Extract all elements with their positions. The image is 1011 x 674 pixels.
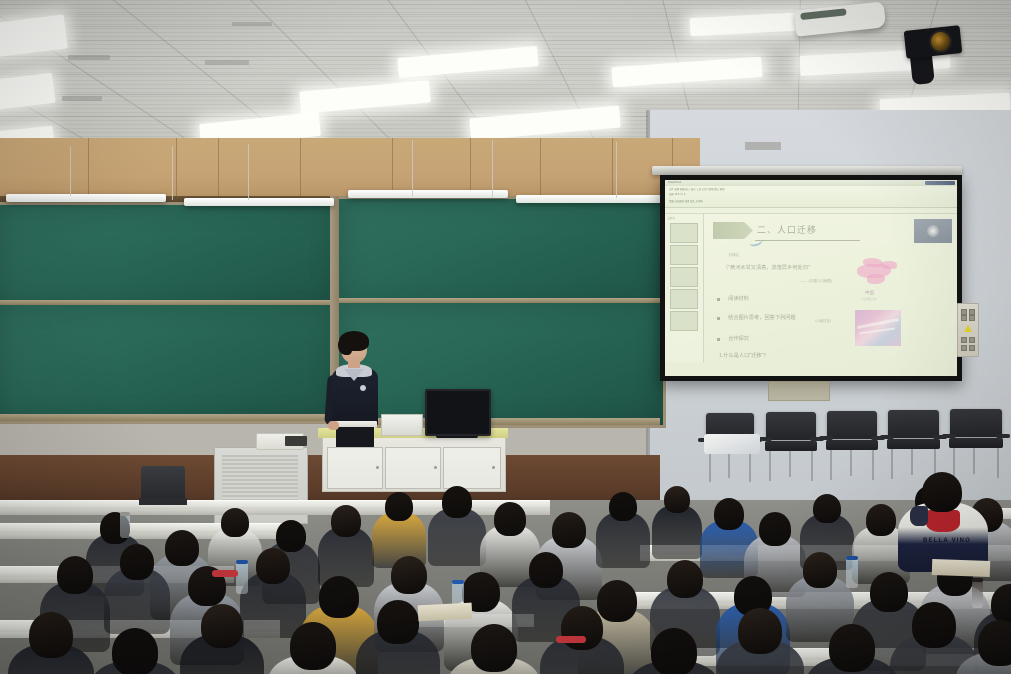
audience-head bbox=[112, 628, 158, 674]
chair[interactable] bbox=[950, 409, 1002, 479]
audience-head bbox=[165, 530, 199, 566]
back-chair bbox=[141, 466, 185, 500]
audience-head bbox=[759, 512, 791, 546]
video-highlight bbox=[927, 225, 939, 237]
audience-member bbox=[90, 628, 180, 674]
chair-back[interactable] bbox=[950, 409, 1002, 437]
audience-head bbox=[651, 628, 697, 674]
slide-thumb[interactable] bbox=[670, 223, 698, 243]
ceiling-seam bbox=[0, 94, 1011, 95]
podium-door[interactable] bbox=[385, 447, 441, 489]
ceiling-vent bbox=[205, 60, 249, 65]
laptop[interactable] bbox=[381, 414, 423, 436]
audience-head bbox=[385, 492, 413, 521]
door-handle-icon[interactable] bbox=[492, 466, 495, 469]
ceiling-strip bbox=[0, 32, 1011, 33]
audience-member bbox=[652, 486, 702, 566]
chair-seat[interactable] bbox=[887, 439, 940, 449]
window-buttons[interactable] bbox=[925, 181, 955, 185]
slide-line-1: · 阅读材料 bbox=[725, 295, 749, 302]
chair-leg bbox=[728, 452, 730, 478]
book bbox=[932, 559, 991, 577]
app-window-title: PowerPoint bbox=[668, 181, 681, 184]
cabinet-dark-device bbox=[285, 436, 307, 446]
water-bottle bbox=[236, 560, 248, 594]
board-divider bbox=[0, 300, 336, 305]
map-subcaption: 人口密度分布 bbox=[861, 297, 877, 301]
ceiling-strip bbox=[0, 92, 1011, 93]
chair[interactable] bbox=[888, 410, 939, 480]
audience-head bbox=[866, 504, 896, 536]
slide-line-0: （"黄河水甘又清亮，流落异乡何处归" bbox=[723, 264, 810, 271]
ceiling-strip bbox=[0, 36, 1011, 37]
decor-swoosh-icon bbox=[748, 235, 764, 248]
ceiling-vent bbox=[68, 55, 110, 60]
chair-leg bbox=[769, 451, 771, 481]
podium-door[interactable] bbox=[443, 447, 501, 489]
ceiling-strip bbox=[0, 88, 1011, 89]
chair-leg bbox=[749, 452, 751, 482]
bottle-cap bbox=[236, 560, 248, 564]
ceiling-seam bbox=[0, 74, 1011, 75]
ceiling-strip bbox=[0, 40, 1011, 41]
audience-member-bella-vino: BELLA VINO bbox=[898, 476, 988, 572]
audience-member bbox=[8, 612, 94, 674]
slide-line-2: · 结合图片思考，回答下列问题 bbox=[725, 314, 796, 321]
audience-head bbox=[978, 620, 1011, 666]
chair-leg bbox=[830, 450, 832, 480]
chalkboard-panel bbox=[0, 300, 340, 424]
slide-thumb[interactable] bbox=[670, 267, 698, 287]
light-suspension-rod bbox=[616, 142, 617, 198]
projection-screen: PowerPoint 文件 编辑 视图 插入 格式 工具 幻灯片放映 窗口 帮助… bbox=[660, 175, 962, 381]
pane-label: 幻灯片 bbox=[668, 216, 675, 220]
ribbon-row-1[interactable]: 宋体 18 B I U S bbox=[669, 192, 685, 196]
audience-head bbox=[552, 512, 586, 548]
audience-head bbox=[319, 576, 359, 618]
screen-roller-housing[interactable] bbox=[652, 166, 962, 175]
chair-back[interactable] bbox=[827, 411, 877, 439]
ceiling-vent bbox=[62, 96, 102, 101]
slide-thumbnail-pane[interactable]: 幻灯片 bbox=[665, 214, 704, 362]
ceiling-vent bbox=[232, 22, 272, 26]
podium-door[interactable] bbox=[327, 447, 383, 489]
ceiling-light-panel bbox=[611, 57, 762, 87]
slide-canvas: 二、人口迁移 【材料】 （"黄河水甘又清亮，流落异乡何处归" ——《中国人口地理… bbox=[705, 216, 955, 374]
audience-head bbox=[201, 604, 243, 648]
bottle-cap bbox=[452, 580, 464, 584]
slide-hint-note: （小组讨论） bbox=[813, 318, 833, 323]
audience-head bbox=[667, 560, 703, 598]
chalk-tray bbox=[0, 414, 336, 421]
slide-line-3: · 合作探究 bbox=[725, 335, 749, 342]
audience-head bbox=[991, 584, 1011, 624]
app-statusbar bbox=[665, 208, 957, 214]
video-thumbnail[interactable] bbox=[914, 219, 952, 243]
migration-diagram-image bbox=[855, 310, 901, 346]
light-suspension-rod bbox=[172, 146, 173, 200]
ceiling-strip bbox=[0, 44, 1011, 45]
wall-notice bbox=[768, 381, 830, 401]
red-pen bbox=[556, 636, 586, 643]
app-ribbon[interactable]: 宋体 18 B I U S 绘图 自选图形 线条 箭头 文本框 bbox=[665, 191, 957, 208]
ribbon-row-2[interactable]: 绘图 自选图形 线条 箭头 文本框 bbox=[669, 199, 703, 203]
bottle-cap bbox=[120, 512, 130, 516]
chair-leg bbox=[789, 451, 791, 477]
water-bottle bbox=[846, 556, 858, 588]
chair-seat[interactable] bbox=[826, 440, 878, 450]
chair-back[interactable] bbox=[888, 410, 939, 438]
chalkboard-panel bbox=[336, 196, 666, 314]
chair-leg bbox=[997, 448, 999, 478]
audience-head bbox=[120, 544, 154, 580]
audience-head bbox=[561, 606, 603, 650]
audience-member bbox=[448, 624, 540, 674]
audience-head bbox=[829, 624, 875, 672]
audience-member bbox=[806, 624, 898, 674]
chair-arm bbox=[819, 436, 833, 440]
chair-arm bbox=[758, 437, 772, 441]
slide-source-note: ——《中国人口地理》 bbox=[800, 278, 834, 283]
audience-head bbox=[256, 548, 290, 584]
audience-head bbox=[442, 486, 472, 518]
bullet-icon bbox=[717, 298, 720, 301]
audience-head bbox=[813, 494, 841, 523]
audience-head bbox=[664, 486, 690, 513]
audience-head bbox=[738, 608, 782, 654]
audience-member bbox=[956, 620, 1011, 674]
chair-leg bbox=[973, 448, 975, 474]
back-chair-seat bbox=[139, 498, 187, 505]
electrical-warning-icon bbox=[964, 325, 972, 332]
audience-member bbox=[180, 604, 264, 674]
chair-leg bbox=[850, 450, 852, 476]
draped-coat bbox=[704, 434, 760, 454]
slide-thumb[interactable] bbox=[670, 289, 698, 309]
water-bottle bbox=[972, 578, 983, 608]
water-bottle bbox=[120, 512, 130, 538]
slide-subtitle: 【材料】 bbox=[727, 252, 741, 257]
audience-head bbox=[609, 492, 637, 521]
slide-thumb[interactable] bbox=[670, 245, 698, 265]
audience-member bbox=[268, 622, 358, 674]
audience-head bbox=[331, 505, 361, 537]
projector-lens bbox=[800, 8, 846, 20]
audience-head bbox=[221, 508, 249, 537]
chair-back[interactable] bbox=[766, 412, 816, 440]
slide-title-banner bbox=[713, 222, 753, 239]
classroom-photo: PowerPoint 文件 编辑 视图 插入 格式 工具 幻灯片放映 窗口 帮助… bbox=[0, 0, 1011, 674]
red-pen bbox=[212, 570, 238, 577]
chair-seat[interactable] bbox=[765, 441, 817, 451]
audience-member bbox=[716, 608, 804, 674]
door-handle-icon[interactable] bbox=[376, 466, 379, 469]
blackboard-light bbox=[184, 198, 334, 206]
bullet-icon bbox=[717, 338, 720, 341]
presenter-legs bbox=[336, 427, 374, 447]
slide-line-4: 1.什么是人口"迁移"？ bbox=[719, 352, 769, 359]
cabinet-vents bbox=[222, 455, 298, 505]
blackboard-light bbox=[6, 194, 166, 202]
ceiling-strip bbox=[0, 108, 1011, 109]
ceiling-strip bbox=[0, 96, 1011, 97]
bottle-cap bbox=[846, 556, 858, 560]
audience-head bbox=[922, 472, 962, 512]
chalkboard-panel bbox=[336, 300, 666, 428]
chair-leg bbox=[811, 451, 813, 481]
door-handle-icon[interactable] bbox=[434, 466, 437, 469]
audience-head bbox=[57, 556, 93, 594]
map-caption: 中国 bbox=[865, 290, 874, 296]
ceiling-strip bbox=[0, 80, 1011, 81]
audience-head bbox=[471, 624, 517, 672]
audience-head bbox=[912, 602, 956, 648]
audience-head bbox=[803, 552, 837, 588]
jacket-red-panel bbox=[926, 510, 960, 532]
chair-arm bbox=[996, 434, 1010, 438]
audience-member bbox=[628, 628, 720, 674]
jacket-text: BELLA VINO bbox=[914, 538, 980, 544]
audience-body bbox=[652, 505, 702, 559]
blackboard-light bbox=[348, 190, 508, 198]
slide-title: 二、人口迁移 bbox=[757, 223, 817, 236]
screen-surface: PowerPoint 文件 编辑 视图 插入 格式 工具 幻灯片放映 窗口 帮助… bbox=[665, 180, 957, 376]
presenter-badge bbox=[360, 385, 366, 391]
china-map-image bbox=[853, 256, 901, 290]
slide-thumb[interactable] bbox=[670, 311, 698, 331]
audience-head bbox=[391, 556, 427, 594]
podium-monitor[interactable] bbox=[425, 389, 491, 436]
presenter-hair-side bbox=[338, 337, 352, 355]
slide-title-underline bbox=[755, 240, 860, 241]
menu-items[interactable]: 文件 编辑 视图 插入 格式 工具 幻灯片放映 窗口 帮助 bbox=[669, 187, 725, 191]
wall-control-panel[interactable] bbox=[957, 303, 979, 357]
ceiling-strip bbox=[0, 104, 1011, 105]
ceiling-strip bbox=[0, 76, 1011, 77]
chair-leg bbox=[953, 448, 955, 478]
chair-leg bbox=[872, 450, 874, 480]
light-suspension-rod bbox=[412, 140, 413, 196]
book bbox=[418, 603, 473, 622]
light-suspension-rod bbox=[492, 140, 493, 198]
audience-head bbox=[377, 600, 419, 644]
chalkboard-panel bbox=[0, 202, 340, 314]
chair[interactable] bbox=[827, 411, 877, 481]
light-suspension-rod bbox=[248, 144, 249, 200]
jacket-navy-panel bbox=[910, 506, 928, 526]
ceiling-strip bbox=[0, 84, 1011, 85]
ceiling-strip bbox=[0, 100, 1011, 101]
chair-seat[interactable] bbox=[949, 438, 1003, 448]
audience-head bbox=[290, 622, 336, 670]
ceiling-strip bbox=[0, 0, 1011, 1]
wall-speaker bbox=[745, 142, 781, 150]
bottle-cap bbox=[972, 578, 983, 582]
chair-arm bbox=[942, 434, 956, 438]
audience-head bbox=[529, 552, 563, 588]
audience-member bbox=[596, 492, 650, 576]
chair[interactable] bbox=[766, 412, 816, 482]
light-suspension-rod bbox=[70, 146, 71, 196]
chair-arm bbox=[880, 435, 894, 439]
audience-head bbox=[714, 498, 744, 530]
board-divider bbox=[336, 298, 660, 303]
blackboard-light bbox=[516, 195, 666, 203]
bullet-icon bbox=[717, 317, 720, 320]
audience-head bbox=[29, 612, 73, 658]
presenter-hand bbox=[328, 421, 339, 430]
chair-leg bbox=[911, 449, 913, 475]
presenter bbox=[325, 333, 385, 445]
chair-leg bbox=[709, 452, 711, 482]
chair-leg bbox=[891, 449, 893, 479]
audience-head bbox=[494, 502, 526, 536]
